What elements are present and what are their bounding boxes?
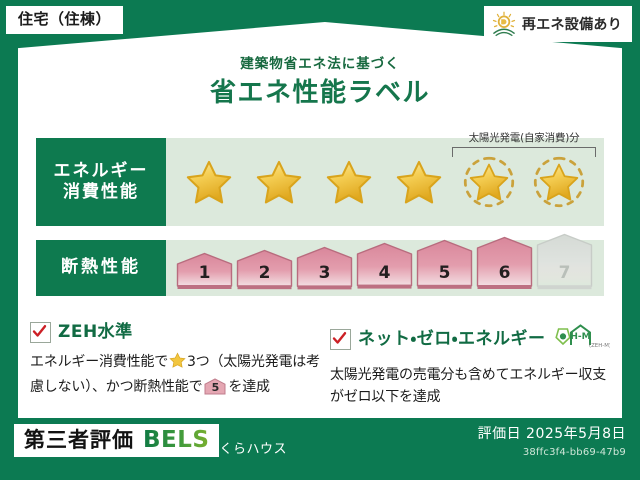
- svg-text:H-M: H-M: [570, 332, 590, 342]
- evaluation-id: 38ffc3f4-bb69-47b9: [478, 447, 626, 458]
- insulation-grade-value: 5: [439, 263, 451, 290]
- achievement-zeh-head: ZEH水準: [30, 322, 320, 343]
- renewable-badge-label: 再エネ設備あり: [522, 14, 622, 34]
- star-rating: [174, 138, 596, 226]
- energy-performance-value: [166, 138, 604, 226]
- achievement-zeh-title: ZEH水準: [58, 324, 133, 341]
- achievement-net-zero-title: ネット・ゼロ・エネルギー: [358, 331, 546, 348]
- zeh-m-logo-icon: H-M (ZEH-M): [554, 322, 610, 356]
- inline-star-icon: [169, 352, 186, 377]
- category-chip: 住宅（住棟）: [6, 6, 123, 34]
- insulation-grade-1: 1: [176, 252, 233, 290]
- svg-text:(ZEH-M): (ZEH-M): [589, 343, 610, 349]
- insulation-grade-7: 7: [536, 233, 593, 290]
- insulation-grade-value: 2: [259, 263, 271, 290]
- star-filled: [244, 138, 314, 226]
- title-subtitle: 建築物省エネ法に基づく: [0, 58, 640, 72]
- energy-performance-label: 住宅（住棟） 再エネ設備あり 建築物省エ: [0, 0, 640, 480]
- star-filled: [174, 138, 244, 226]
- inline-grade-value: 5: [204, 381, 226, 395]
- energy-performance-row: エネルギー 消費性能: [36, 138, 604, 226]
- zeh-checkbox[interactable]: [30, 322, 51, 343]
- footer-meta: 評価日 2025年5月8日 38ffc3f4-bb69-47b9: [478, 426, 626, 458]
- achievement-net-zero: ネット・ゼロ・エネルギー H-M (ZEH-M) 太陽光発電の売電分も含めてエネ…: [330, 322, 616, 408]
- zeh-body-pre: エネルギー消費性能で: [30, 354, 168, 370]
- insulation-grade-3: 3: [296, 246, 353, 290]
- energy-key-line1: エネルギー: [54, 161, 149, 182]
- bels-jp-label: 第三者評価: [24, 428, 134, 452]
- energy-key-line2: 消費性能: [63, 182, 139, 203]
- net-zero-checkbox[interactable]: [330, 329, 351, 350]
- achievement-net-zero-head: ネット・ゼロ・エネルギー H-M (ZEH-M): [330, 322, 616, 356]
- energy-performance-key: エネルギー 消費性能: [36, 138, 166, 226]
- sun-icon: [490, 10, 518, 38]
- insulation-grade-value: 7: [559, 263, 571, 290]
- insulation-grade-scale: 1234567: [176, 240, 593, 296]
- label-title: 建築物省エネ法に基づく 省エネ性能ラベル: [0, 58, 640, 106]
- vendor-name: さくらハウス: [206, 438, 287, 457]
- insulation-grade-6: 6: [476, 236, 533, 290]
- star-filled: [384, 138, 454, 226]
- insulation-grade-value: 3: [319, 263, 331, 290]
- star-solar-dashed: [454, 138, 524, 226]
- insulation-grade-value: 6: [499, 263, 511, 290]
- evaluation-date: 評価日 2025年5月8日: [478, 426, 626, 443]
- insulation-performance-row: 断熱性能 1234567: [36, 240, 604, 296]
- achievement-zeh-body: エネルギー消費性能で3つ（太陽光発電は考慮しない）、かつ断熱性能で5を達成: [30, 352, 320, 398]
- inline-grade-badge: 5: [204, 378, 226, 395]
- insulation-grade-4: 4: [356, 242, 413, 290]
- insulation-grade-5: 5: [416, 239, 473, 290]
- star-filled: [314, 138, 384, 226]
- insulation-grade-value: 4: [379, 263, 391, 290]
- zeh-body-post: を達成: [228, 379, 269, 395]
- renewable-energy-badge: 再エネ設備あり: [484, 6, 632, 42]
- star-solar-dashed: [524, 138, 594, 226]
- insulation-performance-key: 断熱性能: [36, 240, 166, 296]
- achievement-net-zero-body: 太陽光発電の売電分も含めてエネルギー収支がゼロ以下を達成: [330, 365, 616, 408]
- label-footer: 第三者評価 BELS さくらハウス 評価日 2025年5月8日 38ffc3f4…: [0, 418, 640, 480]
- title-main: 省エネ性能ラベル: [0, 80, 640, 106]
- insulation-performance-value: 1234567: [166, 240, 604, 296]
- insulation-grade-2: 2: [236, 249, 293, 290]
- achievement-zeh: ZEH水準 エネルギー消費性能で3つ（太陽光発電は考慮しない）、かつ断熱性能で5…: [30, 322, 320, 398]
- bels-certification-chip: 第三者評価 BELS: [14, 424, 219, 457]
- bels-en-label: BELS: [143, 427, 209, 453]
- insulation-grade-value: 1: [199, 263, 211, 290]
